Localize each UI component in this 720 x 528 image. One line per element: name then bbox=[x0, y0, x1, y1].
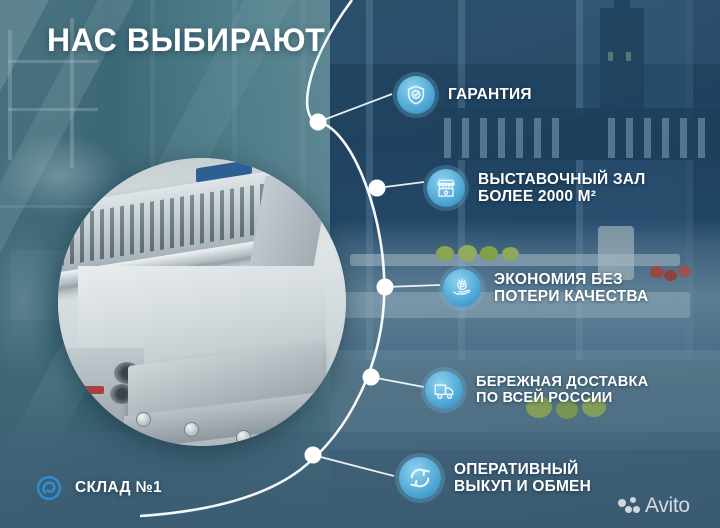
feature-label: ВЫСТАВОЧНЫЙ ЗАЛ БОЛЕЕ 2000 М² bbox=[478, 171, 645, 206]
avito-watermark: Avito bbox=[618, 494, 690, 518]
photo-red-trim bbox=[64, 404, 76, 422]
poster-canvas: НАС ВЫБИРАЮТ ГАРАНТИЯ bbox=[0, 0, 720, 528]
feature-item-guarantee[interactable]: ГАРАНТИЯ bbox=[386, 72, 720, 118]
avito-dots-icon bbox=[618, 496, 640, 516]
hand-ruble-coin-icon bbox=[443, 269, 481, 307]
photo-knob bbox=[136, 412, 151, 427]
feature-item-savings[interactable]: ЭКОНОМИЯ БЕЗ ПОТЕРИ КАЧЕСТВА bbox=[432, 258, 720, 318]
delivery-truck-icon bbox=[425, 371, 463, 409]
shield-check-icon bbox=[397, 76, 435, 114]
brand-logo[interactable]: СКЛАД №1 bbox=[34, 473, 162, 503]
kitchen-photo bbox=[58, 158, 346, 446]
storefront-icon bbox=[427, 169, 465, 207]
page-title: НАС ВЫБИРАЮТ bbox=[47, 22, 325, 59]
feature-item-showroom[interactable]: ВЫСТАВОЧНЫЙ ЗАЛ БОЛЕЕ 2000 М² bbox=[416, 158, 720, 218]
photo-knob bbox=[184, 422, 199, 437]
avito-wordmark: Avito bbox=[645, 494, 690, 518]
sklad-swirl-logo-icon bbox=[34, 473, 64, 503]
feature-label: БЕРЕЖНАЯ ДОСТАВКА ПО ВСЕЙ РОССИИ bbox=[476, 374, 648, 407]
brand-name: СКЛАД №1 bbox=[75, 479, 162, 497]
photo-knob bbox=[236, 430, 251, 445]
refresh-exchange-icon bbox=[399, 457, 441, 499]
feature-label: ГАРАНТИЯ bbox=[448, 86, 532, 103]
feature-label: ЭКОНОМИЯ БЕЗ ПОТЕРИ КАЧЕСТВА bbox=[494, 271, 648, 306]
photo-red-trim bbox=[58, 386, 104, 394]
feature-item-delivery[interactable]: БЕРЕЖНАЯ ДОСТАВКА ПО ВСЕЙ РОССИИ bbox=[414, 362, 720, 418]
photo-red-trim bbox=[84, 404, 96, 422]
feature-label: ОПЕРАТИВНЫЙ ВЫКУП И ОБМЕН bbox=[454, 461, 591, 496]
